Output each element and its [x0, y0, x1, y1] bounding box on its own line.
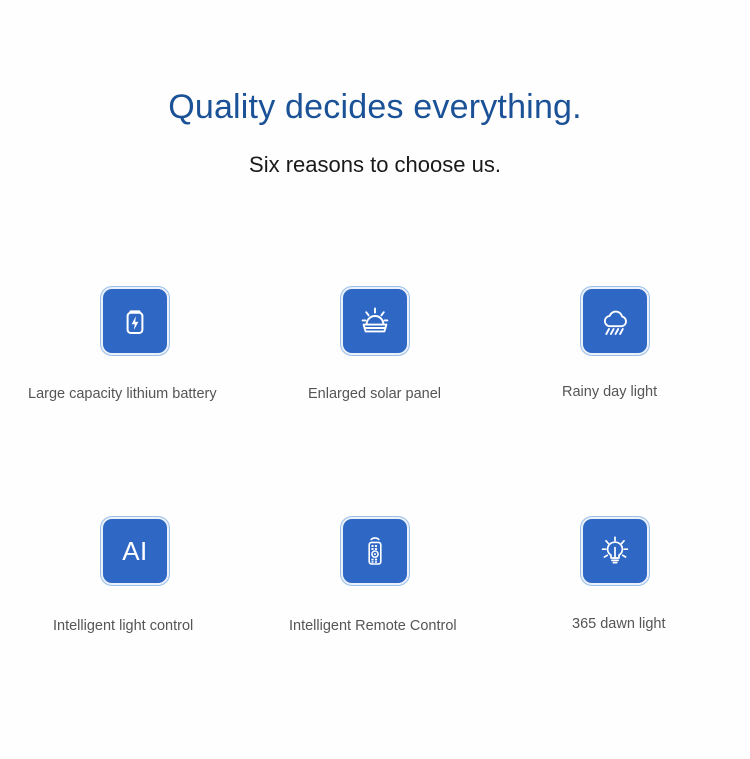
- lightbulb-rays-icon: [597, 533, 633, 569]
- page-subtitle: Six reasons to choose us.: [0, 128, 750, 180]
- feature-label: 365 dawn light: [572, 614, 666, 634]
- feature-label: Rainy day light: [562, 382, 657, 402]
- feature-item-remote-control[interactable]: Intelligent Remote Control: [250, 500, 500, 730]
- ai-text-icon: AI: [122, 538, 148, 564]
- feature-item-dawn-light[interactable]: 365 dawn light: [500, 500, 750, 730]
- feature-icon-tile: [583, 519, 647, 583]
- remote-control-icon: [358, 533, 392, 569]
- battery-bolt-icon: [118, 304, 152, 338]
- feature-row: Large capacity lithium battery: [0, 270, 750, 500]
- feature-icon-tile: [343, 289, 407, 353]
- feature-item-battery[interactable]: Large capacity lithium battery: [0, 270, 250, 500]
- feature-item-intelligent-light-control[interactable]: AI Intelligent light control: [0, 500, 250, 730]
- feature-icon-tile: [103, 289, 167, 353]
- rain-cloud-icon: [597, 304, 633, 338]
- feature-icon-tile: AI: [103, 519, 167, 583]
- feature-item-solar-panel[interactable]: Enlarged solar panel: [250, 270, 500, 500]
- feature-label: Intelligent light control: [53, 616, 193, 636]
- feature-icon-tile: [343, 519, 407, 583]
- feature-label: Enlarged solar panel: [308, 384, 441, 404]
- feature-label: Intelligent Remote Control: [289, 616, 457, 636]
- feature-icon-tile: [583, 289, 647, 353]
- feature-item-rainy-day[interactable]: Rainy day light: [500, 270, 750, 500]
- feature-row: AI Intelligent light control: [0, 500, 750, 730]
- feature-label: Large capacity lithium battery: [28, 384, 217, 404]
- feature-highlights-page: Quality decides everything. Six reasons …: [0, 0, 750, 759]
- page-title: Quality decides everything.: [0, 86, 750, 128]
- solar-panel-sun-icon: [357, 304, 393, 338]
- feature-grid: Large capacity lithium battery: [0, 270, 750, 730]
- heading-block: Quality decides everything. Six reasons …: [0, 86, 750, 180]
